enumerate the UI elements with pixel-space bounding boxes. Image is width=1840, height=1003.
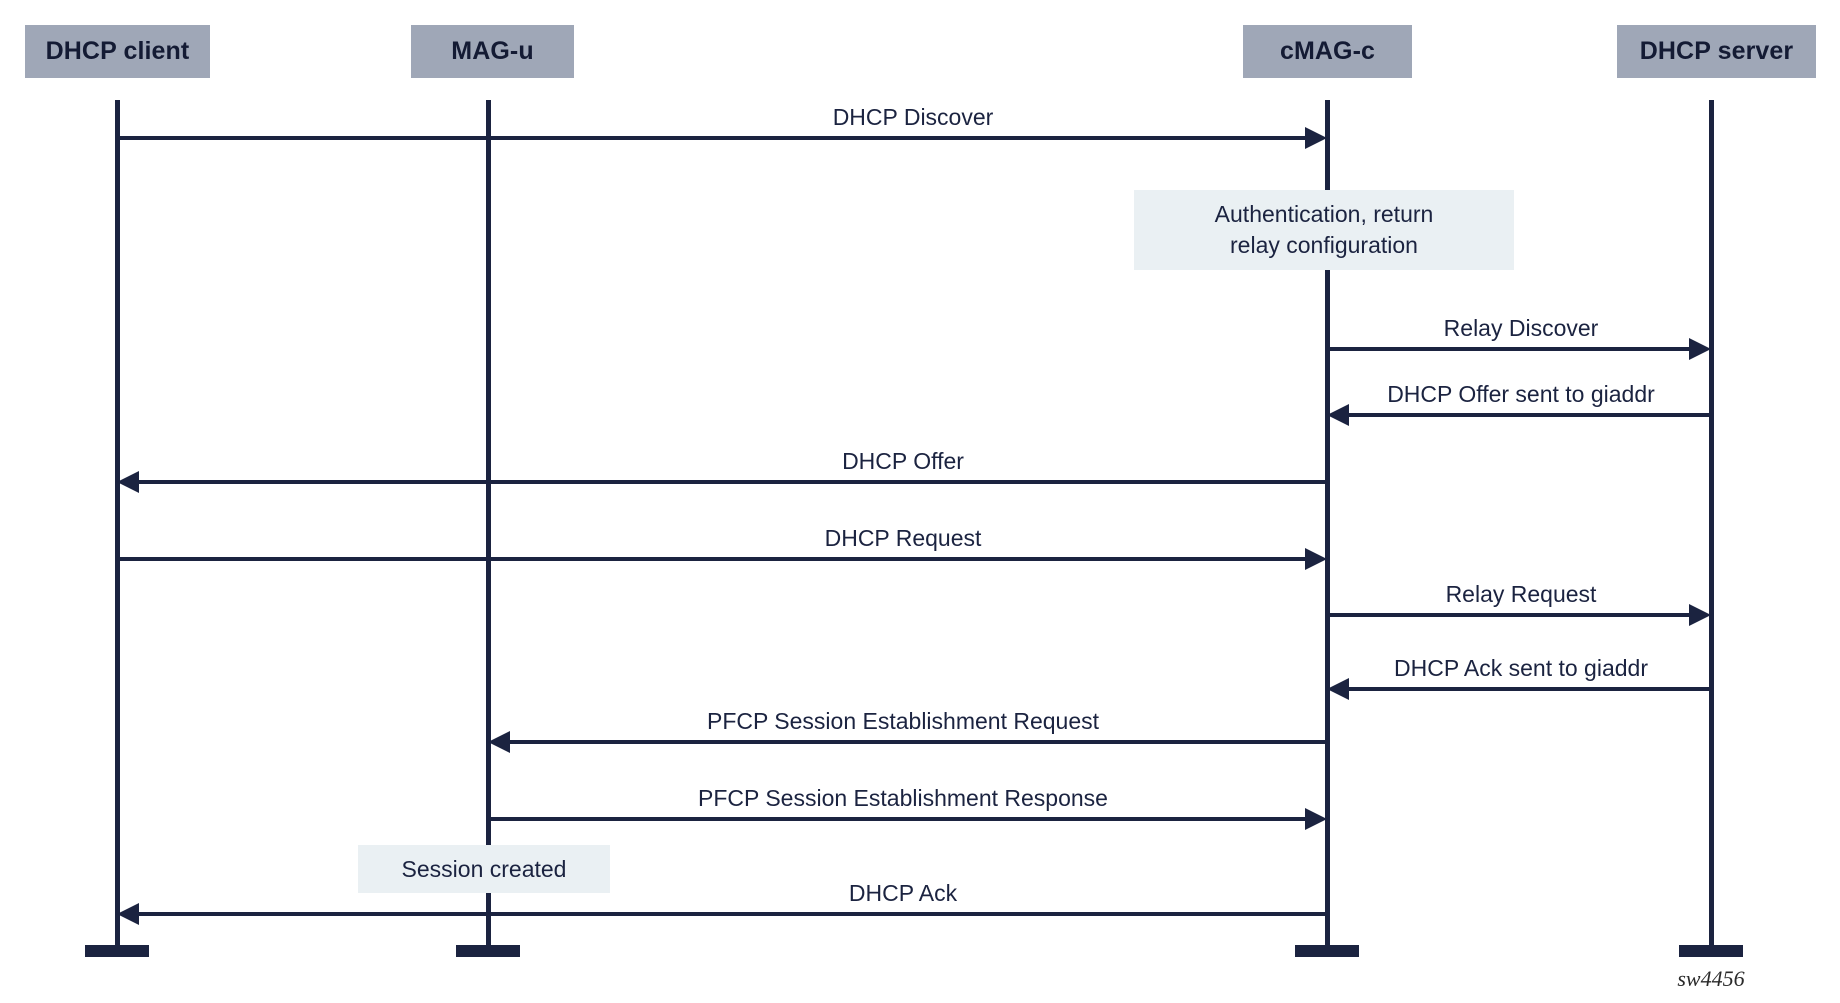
message-label: PFCP Session Establishment Response (698, 785, 1108, 812)
participant-dhcp-client[interactable]: DHCP client (25, 25, 210, 78)
note-line-2: relay configuration (1215, 230, 1434, 261)
participant-label-dhcp-client: DHCP client (46, 37, 190, 66)
message-label: PFCP Session Establishment Request (707, 708, 1099, 735)
message-line (135, 912, 1327, 916)
note-line-1: Session created (402, 854, 567, 885)
arrowhead-left-icon (117, 903, 139, 925)
participant-label-dhcp-server: DHCP server (1640, 37, 1794, 66)
sequence-diagram-canvas: DHCP clientMAG-ucMAG-cDHCP server DHCP D… (0, 0, 1840, 1003)
message-label: DHCP Ack (849, 880, 957, 907)
arrowhead-left-icon (1327, 678, 1349, 700)
message-line (117, 136, 1309, 140)
note-session-created: Session created (358, 845, 610, 893)
arrowhead-right-icon (1305, 808, 1327, 830)
participant-cmag-c[interactable]: cMAG-c (1243, 25, 1412, 78)
message-line (506, 740, 1327, 744)
message-label: DHCP Offer sent to giaddr (1387, 381, 1655, 408)
message-line (1345, 413, 1711, 417)
participant-label-cmag-c: cMAG-c (1280, 37, 1375, 66)
participant-dhcp-server[interactable]: DHCP server (1617, 25, 1816, 78)
arrowhead-right-icon (1305, 548, 1327, 570)
message-line (1327, 347, 1693, 351)
arrowhead-left-icon (1327, 404, 1349, 426)
arrowhead-right-icon (1689, 604, 1711, 626)
arrowhead-left-icon (488, 731, 510, 753)
message-line (135, 480, 1327, 484)
arrowhead-left-icon (117, 471, 139, 493)
figure-id-label: sw4456 (1677, 966, 1744, 992)
message-label: DHCP Discover (833, 104, 994, 131)
lifeline-dhcp-server (1709, 100, 1714, 945)
arrowhead-right-icon (1689, 338, 1711, 360)
message-line (1345, 687, 1711, 691)
message-line (1327, 613, 1693, 617)
note-authentication: Authentication, returnrelay configuratio… (1134, 190, 1514, 270)
lifeline-foot-cmag-c (1295, 945, 1359, 957)
arrowhead-right-icon (1305, 127, 1327, 149)
lifeline-foot-mag-u (456, 945, 520, 957)
message-line (488, 817, 1309, 821)
note-text: Authentication, returnrelay configuratio… (1215, 199, 1434, 261)
lifeline-foot-dhcp-client (85, 945, 149, 957)
message-label: DHCP Ack sent to giaddr (1394, 655, 1648, 682)
lifeline-dhcp-client (115, 100, 120, 945)
message-label: DHCP Offer (842, 448, 964, 475)
message-line (117, 557, 1309, 561)
participant-mag-u[interactable]: MAG-u (411, 25, 574, 78)
message-label: Relay Discover (1444, 315, 1599, 342)
note-line-1: Authentication, return (1215, 199, 1434, 230)
participant-label-mag-u: MAG-u (451, 37, 533, 66)
lifeline-foot-dhcp-server (1679, 945, 1743, 957)
message-label: DHCP Request (825, 525, 982, 552)
note-text: Session created (402, 854, 567, 885)
message-label: Relay Request (1446, 581, 1597, 608)
